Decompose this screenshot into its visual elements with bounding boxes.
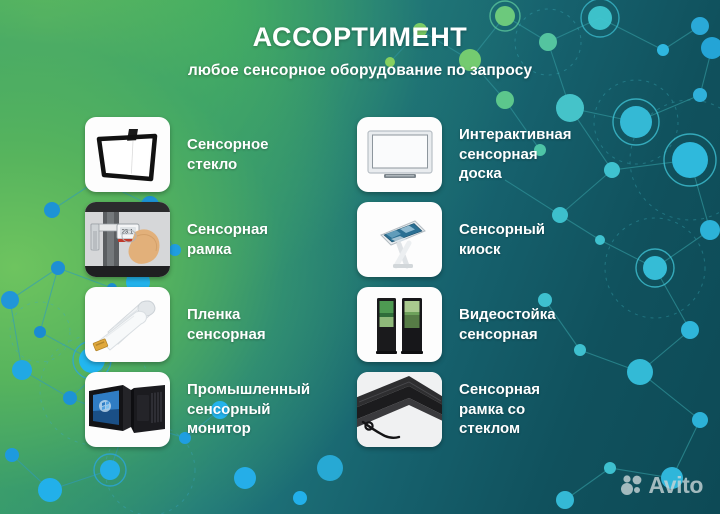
industrial-monitor-icon [85, 372, 170, 447]
list-item-label: Сенсорноестекло [187, 135, 268, 175]
avito-watermark: Avito [620, 474, 703, 497]
list-item-label: Сенсорныйкиоск [459, 220, 545, 260]
list-item[interactable]: Сенсорныйкиоск [357, 197, 629, 282]
list-item-label: Интерактивнаясенсорнаядоска [459, 125, 572, 185]
poster-canvas: АССОРТИМЕНТ любое сенсорное оборудование… [0, 0, 720, 514]
page-title: АССОРТИМЕНТ [0, 22, 720, 53]
poster-header: АССОРТИМЕНТ любое сенсорное оборудование… [0, 22, 720, 80]
avito-dots-icon [620, 475, 644, 497]
list-item[interactable]: Интерактивнаясенсорнаядоска [357, 112, 629, 197]
frame-with-glass-icon [357, 372, 442, 447]
touch-kiosk-icon [357, 202, 442, 277]
touch-glass-icon [85, 117, 170, 192]
list-item[interactable]: Сенсорноестекло [85, 112, 357, 197]
touch-frame-icon: 23.1 [85, 202, 170, 277]
list-item-label: Сенсорнаярамка [187, 220, 268, 260]
video-stand-icon [357, 287, 442, 362]
list-item[interactable]: Промышленныйсенсорныймонитор [85, 367, 357, 452]
touch-film-icon [85, 287, 170, 362]
list-item[interactable]: 23.1 Сенсорнаярамка [85, 197, 357, 282]
list-item[interactable]: Сенсорнаярамка состеклом [357, 367, 629, 452]
list-item-label: Промышленныйсенсорныймонитор [187, 380, 310, 440]
list-item[interactable]: Пленкасенсорная [85, 282, 357, 367]
page-subtitle: любое сенсорное оборудование по запросу [0, 62, 720, 80]
list-item-label: Сенсорнаярамка состеклом [459, 380, 540, 440]
avito-wordmark: Avito [648, 474, 703, 497]
product-grid: Сенсорноестекло Интерактивнаясенсорнаядо… [0, 112, 720, 452]
list-item-label: Пленкасенсорная [187, 305, 266, 345]
interactive-board-icon [357, 117, 442, 192]
list-item-label: Видеостойкасенсорная [459, 305, 556, 345]
list-item[interactable]: Видеостойкасенсорная [357, 282, 629, 367]
